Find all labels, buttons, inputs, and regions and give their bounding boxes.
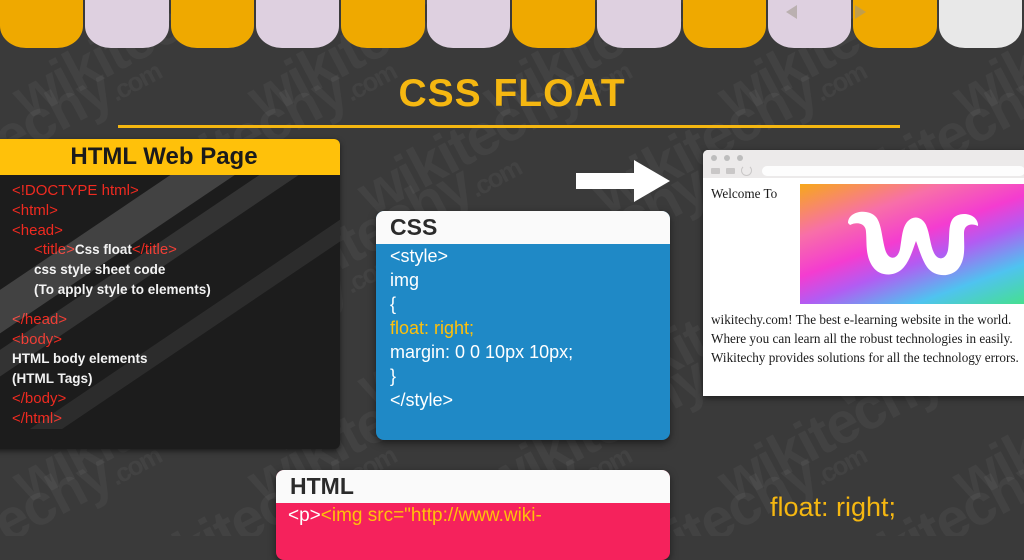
title-underline-rule <box>118 125 900 128</box>
browser-chrome <box>703 150 1024 178</box>
code-line-tag: </html> <box>12 409 340 429</box>
banner-scallop <box>0 0 83 48</box>
browser-preview-window: Welcome To wikitechy.com! The best e-lea… <box>703 150 1024 396</box>
html-code-panel-code: <p><img src="http://www.wiki- <box>276 503 670 527</box>
window-dot-minimize[interactable] <box>724 155 730 161</box>
browser-content-area: Welcome To wikitechy.com! The best e-lea… <box>703 178 1024 389</box>
code-line-note: HTML body elements <box>12 349 340 369</box>
html-code-img-src: <img src="http://www.wiki- <box>321 505 542 526</box>
code-line-note: css style sheet code <box>12 260 340 280</box>
html-web-page-code: <!DOCTYPE html><html><head><title>Css fl… <box>0 175 340 429</box>
css-code-line: float: right; <box>390 317 670 341</box>
html-code-tag-open: <p> <box>288 505 321 526</box>
css-code-line: { <box>390 293 670 317</box>
banner-scallop <box>683 0 766 48</box>
code-line-tag: <head> <box>12 221 340 241</box>
css-code-line: img <box>390 269 670 293</box>
float-right-caption: float: right; <box>770 492 896 523</box>
code-line-note: (To apply style to elements) <box>12 280 340 300</box>
html-code-panel-header: HTML <box>276 470 670 503</box>
reload-icon[interactable] <box>741 165 752 176</box>
window-dot-close[interactable] <box>711 155 717 161</box>
window-dot-maximize[interactable] <box>737 155 743 161</box>
code-line-title: <title>Css float</title> <box>12 240 340 260</box>
code-line-tag: <body> <box>12 330 340 350</box>
window-control-dots <box>711 155 1024 161</box>
banner-scallop <box>597 0 680 48</box>
code-line-tag: </body> <box>12 389 340 409</box>
code-line-tag: </head> <box>12 310 340 330</box>
css-code-line: </style> <box>390 389 670 413</box>
banner-scallop <box>85 0 168 48</box>
html-code-panel: HTML <p><img src="http://www.wiki- <box>276 470 670 560</box>
nav-back-icon[interactable] <box>711 168 720 174</box>
address-bar-input[interactable] <box>762 166 1024 176</box>
banner-playback-arrows <box>786 2 866 22</box>
arrow-right-icon <box>576 158 672 209</box>
html-web-page-header: HTML Web Page <box>0 139 340 175</box>
banner-scallop <box>939 0 1022 48</box>
css-panel-header: CSS <box>376 211 670 244</box>
css-code-line: } <box>390 365 670 389</box>
code-line-tag: <html> <box>12 201 340 221</box>
css-code-panel: CSS <style>img{float: right;margin: 0 0 … <box>376 211 670 440</box>
css-code-line: <style> <box>390 245 670 269</box>
top-banner <box>0 0 1024 52</box>
banner-scallop <box>341 0 424 48</box>
browser-toolbar <box>711 165 1024 176</box>
banner-scallop <box>256 0 339 48</box>
page-title: CSS FLOAT <box>0 72 1024 116</box>
banner-scallop <box>171 0 254 48</box>
code-spacer <box>12 300 340 310</box>
css-panel-code: <style>img{float: right;margin: 0 0 10px… <box>376 244 670 413</box>
banner-scallop <box>427 0 510 48</box>
code-line-tag: <!DOCTYPE html> <box>12 181 340 201</box>
triangle-right-icon[interactable] <box>855 5 866 19</box>
html-web-page-panel: HTML Web Page <!DOCTYPE html><html><head… <box>0 139 340 449</box>
css-code-line: margin: 0 0 10px 10px; <box>390 341 670 365</box>
code-line-note: (HTML Tags) <box>12 369 340 389</box>
banner-scallop <box>512 0 595 48</box>
triangle-left-icon[interactable] <box>786 5 797 19</box>
nav-forward-icon[interactable] <box>726 168 735 174</box>
wikitechy-logo-image <box>800 184 1024 304</box>
